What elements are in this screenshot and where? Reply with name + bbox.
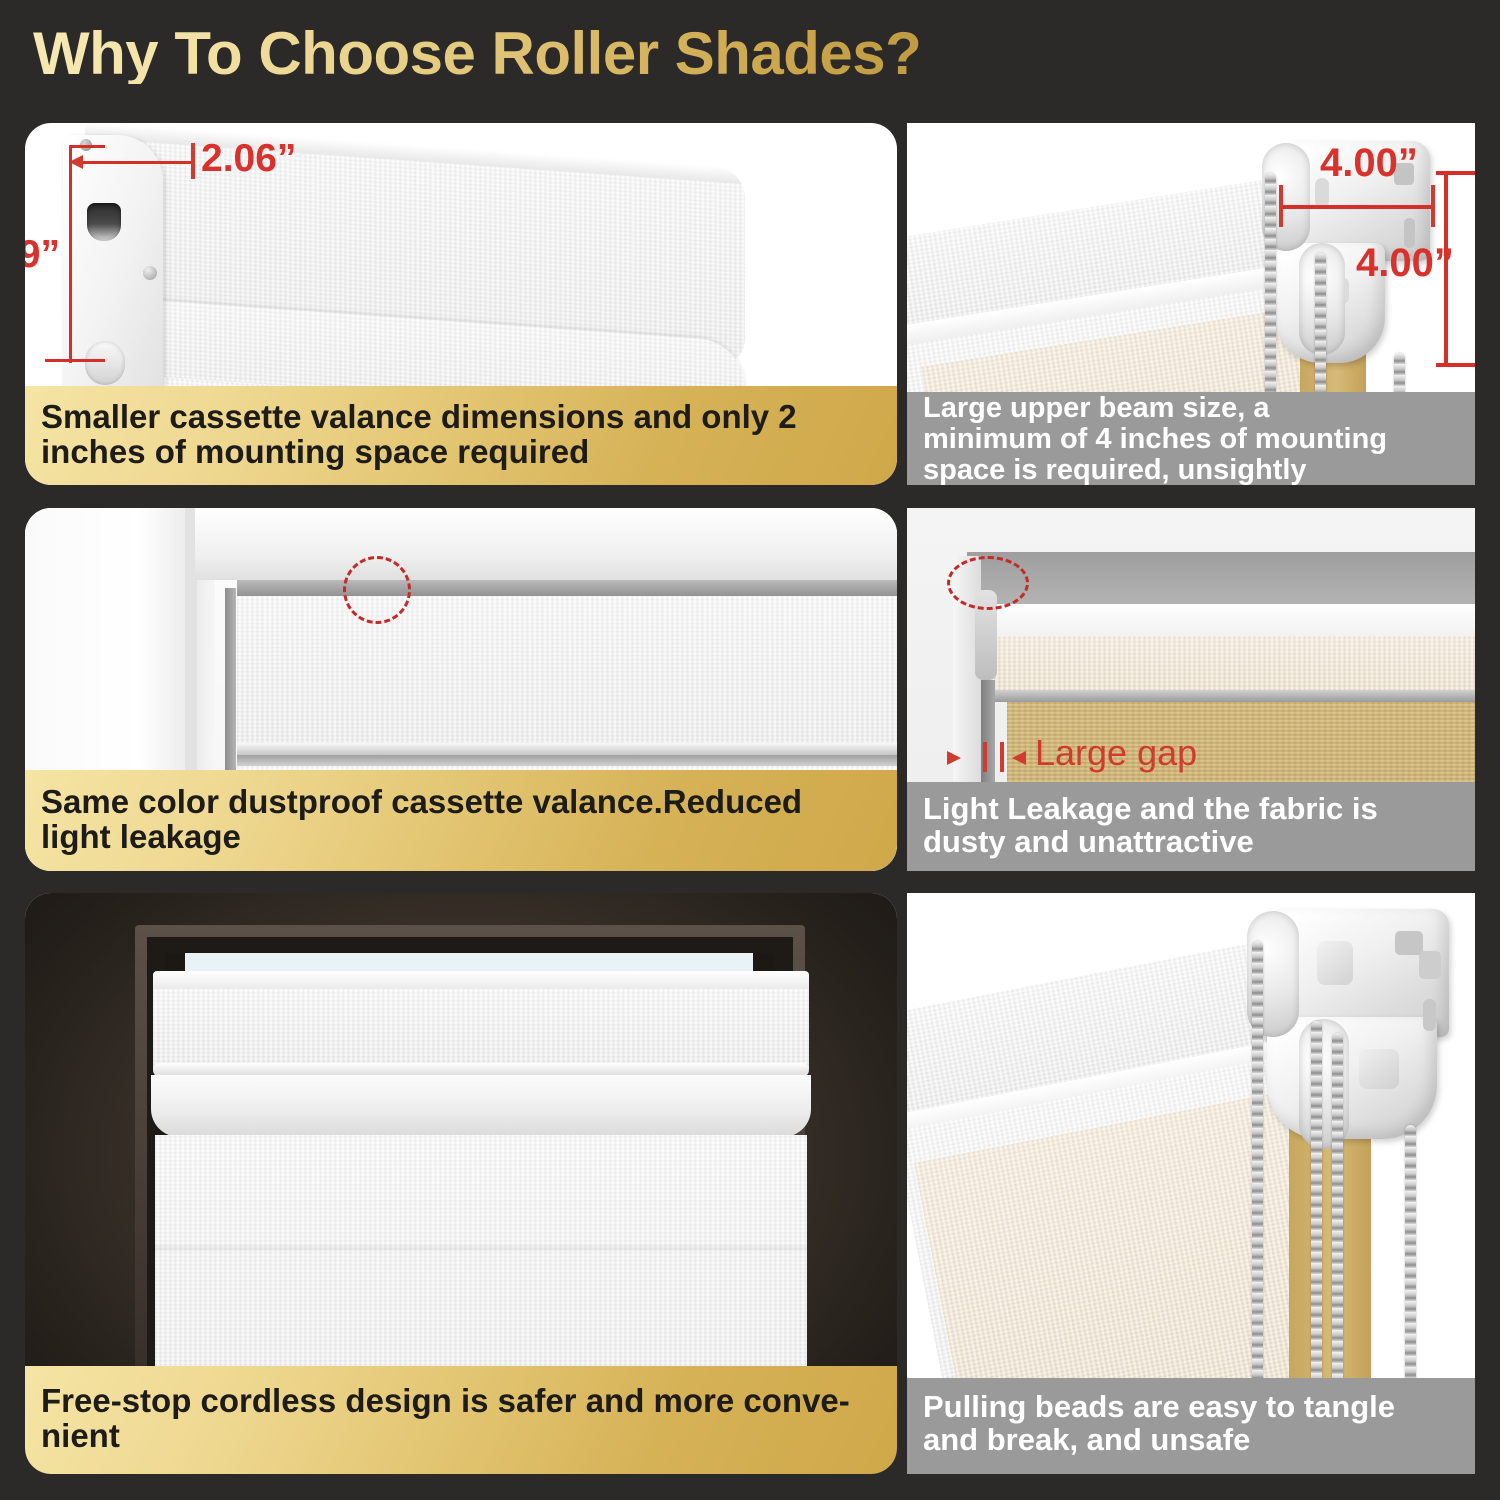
gap-label: Large gap: [1035, 732, 1197, 774]
caption-middle-left: Same color dustproof cassette valance.Re…: [25, 770, 897, 871]
panel-top-right: 4.00” 4.00” Large upper beam size, a min…: [907, 123, 1475, 485]
page-title: Why To Choose Roller Shades?: [33, 24, 921, 84]
caption-top-right: Large upper beam size, a minimum of 4 in…: [907, 392, 1475, 485]
caption-line: Large upper beam size, a: [923, 393, 1387, 424]
caption-line: inches of mounting space required: [41, 435, 797, 470]
caption-bottom-right: Pulling beads are easy to tangle and bre…: [907, 1378, 1475, 1474]
caption-line: Pulling beads are easy to tangle: [923, 1391, 1395, 1424]
caption-line: and break, and unsafe: [923, 1424, 1395, 1457]
dimension-width-label: 4.00”: [1320, 141, 1418, 186]
caption-top-left: Smaller cassette valance dimensions and …: [25, 386, 897, 485]
highlight-circle: [343, 556, 411, 624]
dimension-height-label: 4.00”: [1356, 241, 1454, 286]
panel-middle-left: smaller gap Same color dustproof cassett…: [25, 508, 897, 871]
roller-bracket-lower: [1267, 1017, 1437, 1139]
caption-line: Light Leakage and the fabric is: [923, 793, 1378, 826]
dimension-width-label: 2.06”: [201, 137, 296, 181]
caption-line: Same color dustproof cassette valance.Re…: [41, 785, 802, 820]
caption-line: dusty and unattractive: [923, 826, 1378, 859]
caption-bottom-left: Free-stop cordless design is safer and m…: [25, 1366, 897, 1474]
infographic-root: Why To Choose Roller Shades?: [0, 0, 1500, 1500]
gap-arrow-right: [1012, 751, 1026, 765]
caption-line: light leakage: [41, 820, 802, 855]
panel-top-left: 2.06” 5.49” Smaller cassette valance dim…: [25, 123, 897, 485]
caption-line: Smaller cassette valance dimensions and …: [41, 400, 797, 435]
caption-middle-right: Light Leakage and the fabric is dusty an…: [907, 782, 1475, 871]
panel-bottom-right: Pulling beads are easy to tangle and bre…: [907, 893, 1475, 1474]
dimension-height-label: 5.49”: [25, 233, 60, 277]
highlight-circle: [947, 556, 1029, 610]
caption-line: Free-stop cordless design is safer and m…: [41, 1384, 850, 1419]
panel-middle-right: Large gap Light Leakage and the fabric i…: [907, 508, 1475, 871]
caption-line: space is required, unsightly: [923, 455, 1387, 485]
panel-bottom-left: Free-stop cordless design is safer and m…: [25, 893, 897, 1474]
gap-arrow-left: [947, 751, 961, 765]
caption-line: nient: [41, 1419, 850, 1454]
caption-line: minimum of 4 inches of mounting: [923, 424, 1387, 455]
